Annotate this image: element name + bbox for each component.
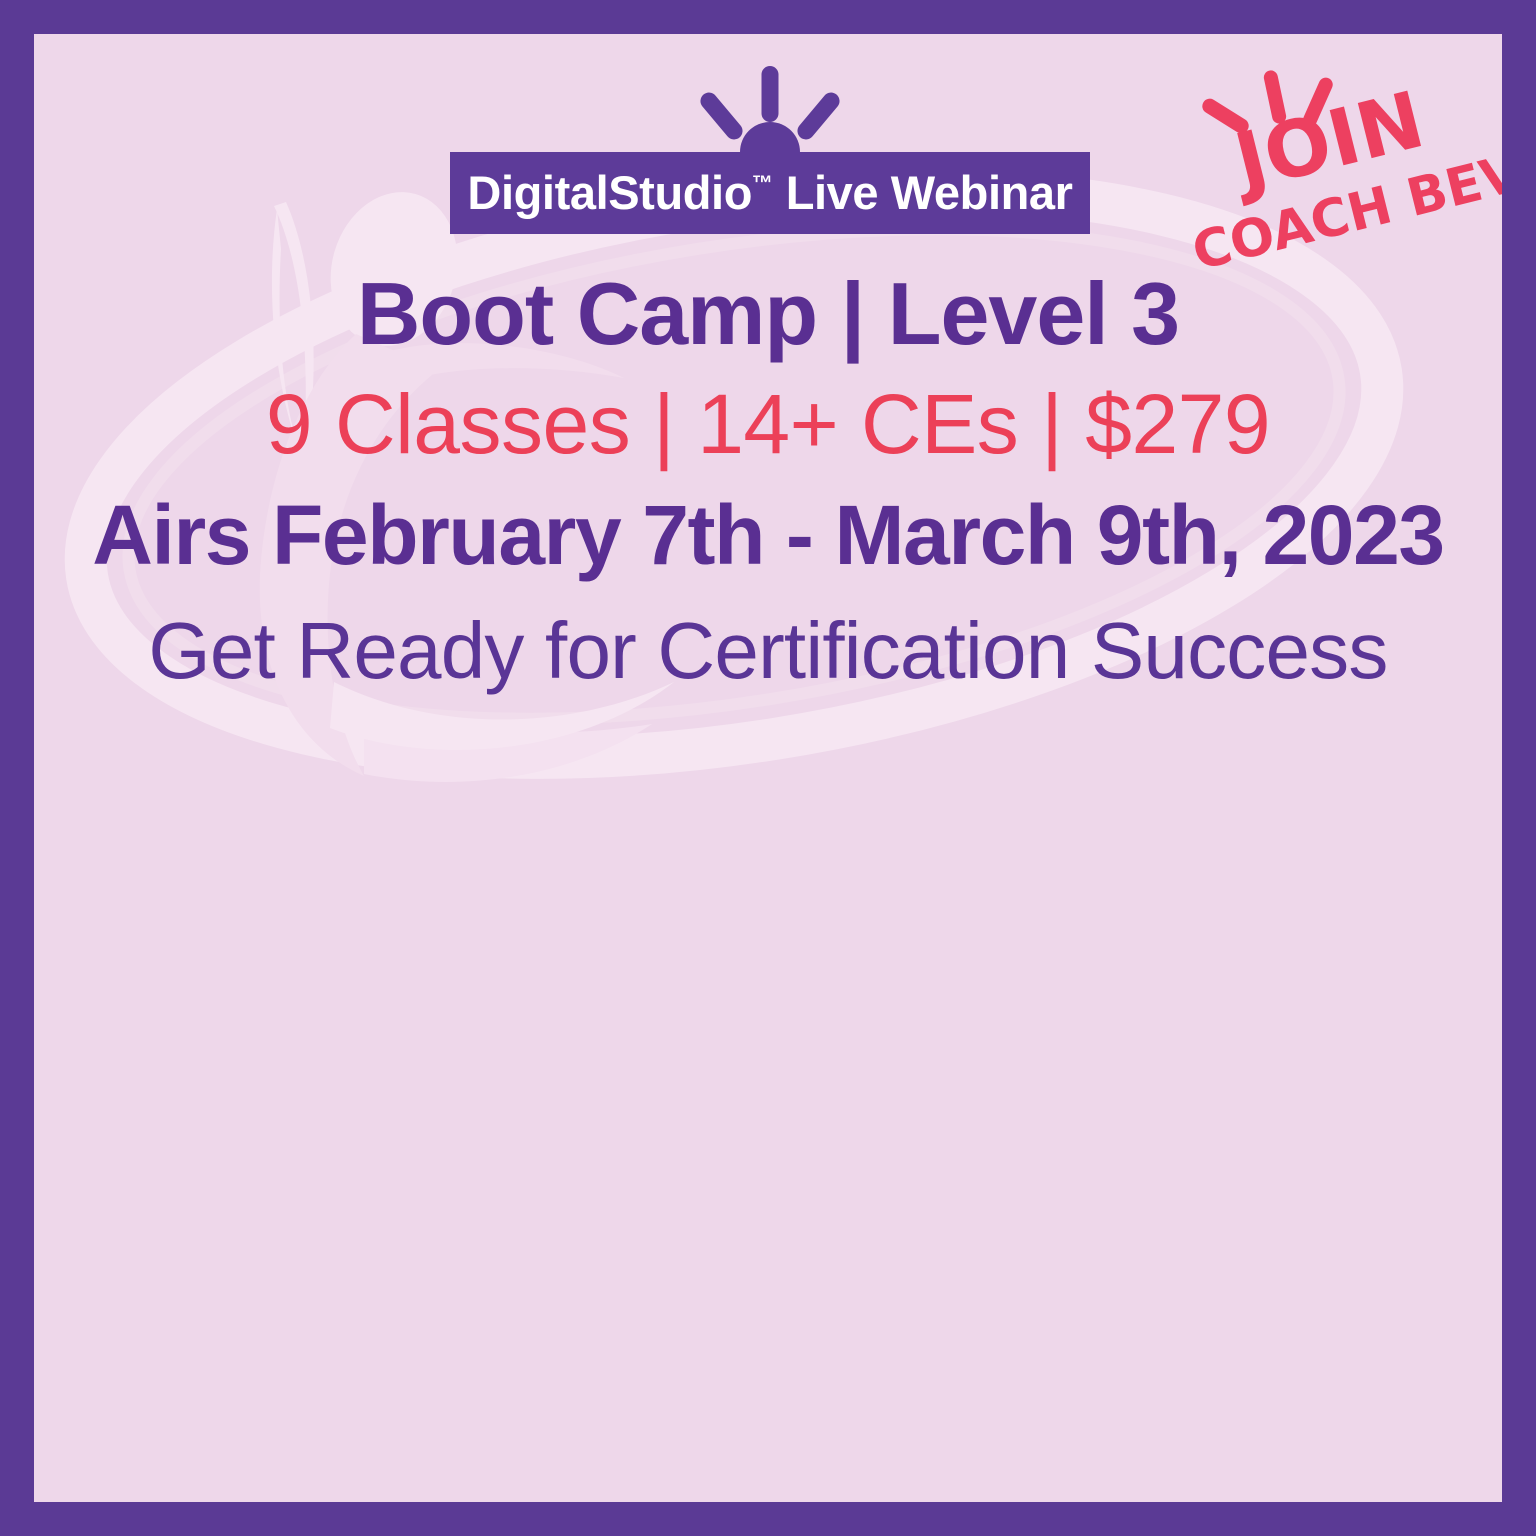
burst-ray-center bbox=[1263, 69, 1288, 125]
sticker-line-coach-bev: COACH BEV bbox=[1187, 143, 1502, 283]
three-ray-burst-icon bbox=[1199, 69, 1334, 136]
figure-leg bbox=[364, 702, 652, 782]
sunburst-ray-center bbox=[762, 66, 779, 122]
air-dates-line: Airs February 7th - March 9th, 2023 bbox=[34, 491, 1502, 579]
brand-badge: DigitalStudio™ Live Webinar bbox=[450, 152, 1090, 234]
brand-name: DigitalStudio bbox=[467, 166, 752, 219]
stylized-figure-swoosh-watermark bbox=[34, 34, 1502, 1502]
burst-ray-left bbox=[1199, 96, 1251, 136]
brand-suffix: Live Webinar bbox=[773, 166, 1073, 219]
tagline: Get Ready for Certification Success bbox=[34, 609, 1502, 693]
sunburst-icon bbox=[695, 56, 845, 152]
brand-badge-label: DigitalStudio™ Live Webinar bbox=[467, 169, 1072, 218]
poster-canvas: DigitalStudio™ Live Webinar JOIN COACH B… bbox=[34, 34, 1502, 1502]
poster-text-stack: Boot Camp | Level 3 9 Classes | 14+ CEs … bbox=[34, 264, 1502, 693]
trademark-symbol: ™ bbox=[752, 172, 773, 195]
webinar-promo-poster: DigitalStudio™ Live Webinar JOIN COACH B… bbox=[0, 0, 1536, 1536]
brand-logo-block: DigitalStudio™ Live Webinar bbox=[450, 56, 1090, 246]
sunburst-ray-left bbox=[697, 89, 746, 143]
burst-ray-right bbox=[1301, 75, 1335, 128]
page-title: Boot Camp | Level 3 bbox=[34, 268, 1502, 360]
price-details-line: 9 Classes | 14+ CEs | $279 bbox=[34, 380, 1502, 468]
sunburst-dome bbox=[740, 122, 800, 152]
sticker-line-join: JOIN bbox=[1222, 75, 1433, 209]
sunburst-ray-right bbox=[794, 89, 843, 143]
